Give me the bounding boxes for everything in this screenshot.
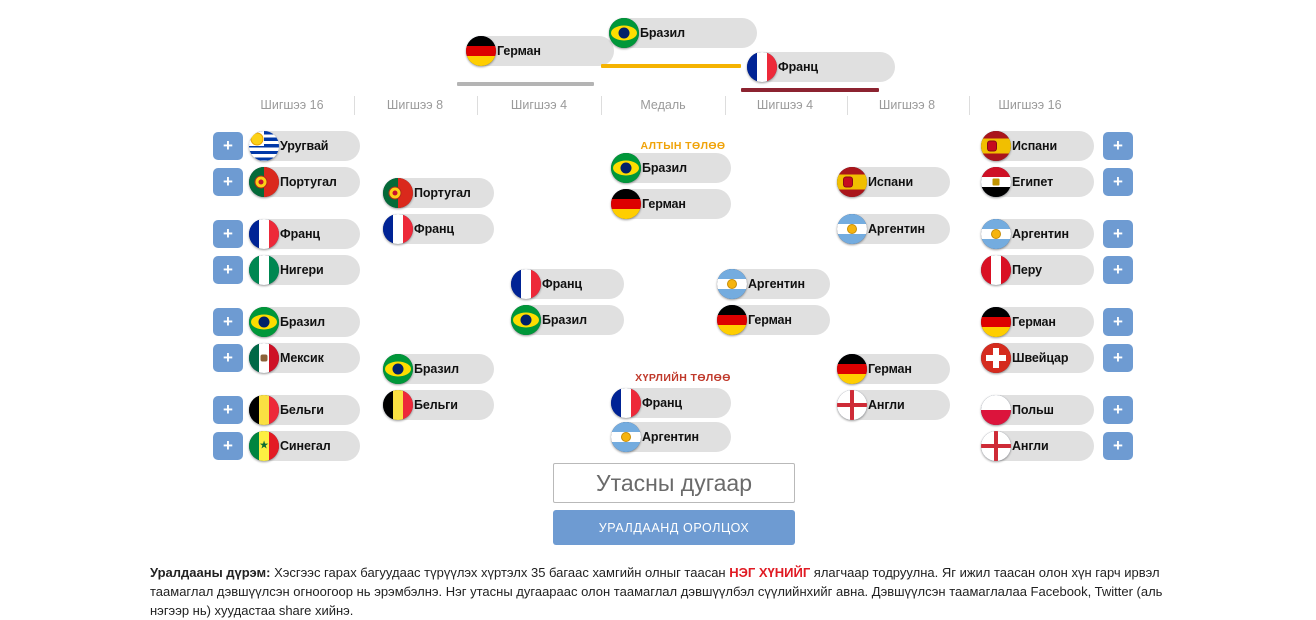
header-divider: [969, 96, 970, 115]
team-pill[interactable]: Аргентин: [981, 219, 1094, 249]
team-name: Швейцар: [1012, 351, 1068, 365]
team-pill[interactable]: Бельги: [249, 395, 360, 425]
add-pick-button[interactable]: +: [213, 168, 243, 196]
team-pill[interactable]: Бразил: [383, 354, 494, 384]
flag-icon-en: [837, 390, 867, 420]
add-pick-button[interactable]: +: [1103, 344, 1133, 372]
flag-icon-pt: [383, 178, 413, 208]
flag-icon-be: [383, 390, 413, 420]
flag-icon-de: [981, 307, 1011, 337]
team-pill[interactable]: Перу: [981, 255, 1094, 285]
flag-icon-be: [249, 395, 279, 425]
bronze-match-label: ХҮРЛИЙН ТӨЛӨӨ: [608, 372, 758, 384]
flag-icon-br: [249, 307, 279, 337]
flag-icon-fr: [249, 219, 279, 249]
flag-icon-en: [981, 431, 1011, 461]
round-header-1: Шигшээ 8: [365, 98, 465, 112]
rules-part1: Хэсгээс гарах багуудаас түрүүлэх хүртэлх…: [271, 565, 730, 580]
add-pick-button[interactable]: +: [1103, 168, 1133, 196]
header-divider: [601, 96, 602, 115]
flag-icon-ng: [249, 255, 279, 285]
flag-icon-fr: [611, 388, 641, 418]
rules-text: Уралдааны дүрэм: Хэсгээс гарах багуудаас…: [150, 563, 1185, 620]
team-pill[interactable]: Нигери: [249, 255, 360, 285]
team-name: Герман: [868, 362, 912, 376]
add-pick-button[interactable]: +: [213, 132, 243, 160]
flag-icon-de: [837, 354, 867, 384]
team-name: Нигери: [280, 263, 324, 277]
flag-icon-fr: [383, 214, 413, 244]
team-name: Египет: [1012, 175, 1053, 189]
team-name: Герман: [642, 197, 686, 211]
team-name: Перу: [1012, 263, 1042, 277]
team-name: Франц: [280, 227, 320, 241]
podium-pill-gold[interactable]: Бразил: [609, 18, 757, 48]
flag-icon-sn: ★: [249, 431, 279, 461]
flag-icon-pe: [981, 255, 1011, 285]
team-pill[interactable]: Польш: [981, 395, 1094, 425]
team-pill[interactable]: Бразил: [249, 307, 360, 337]
team-name: Португал: [280, 175, 337, 189]
team-name: Мексик: [280, 351, 324, 365]
flag-icon-mx: [249, 343, 279, 373]
podium-bar-bronze: [741, 88, 879, 92]
header-divider: [477, 96, 478, 115]
team-name: Бразил: [280, 315, 325, 329]
header-divider: [725, 96, 726, 115]
flag-icon-eg: [981, 167, 1011, 197]
flag-icon-uy: [249, 131, 279, 161]
team-pill[interactable]: Франц: [249, 219, 360, 249]
team-name: Бразил: [414, 362, 459, 376]
team-name: Синегал: [280, 439, 331, 453]
team-name: Бразил: [542, 313, 587, 327]
team-pill[interactable]: Герман: [981, 307, 1094, 337]
team-name: Аргентин: [642, 430, 699, 444]
team-pill[interactable]: Египет: [981, 167, 1094, 197]
flag-icon-br: [383, 354, 413, 384]
add-pick-button[interactable]: +: [1103, 256, 1133, 284]
team-pill[interactable]: Герман: [717, 305, 830, 335]
round-header-4: Шигшээ 4: [735, 98, 835, 112]
team-pill[interactable]: Франц: [383, 214, 494, 244]
podium-bar-gold: [601, 64, 741, 68]
team-pill[interactable]: Уругвай: [249, 131, 360, 161]
round-header-5: Шигшээ 8: [857, 98, 957, 112]
flag-icon-ar: [717, 269, 747, 299]
team-pill[interactable]: Англи: [837, 390, 950, 420]
team-name: Герман: [1012, 315, 1056, 329]
flag-icon-pl: [981, 395, 1011, 425]
flag-icon-fr: [511, 269, 541, 299]
round-header-2: Шигшээ 4: [489, 98, 589, 112]
team-name: Аргентин: [868, 222, 925, 236]
team-pill[interactable]: ★Синегал: [249, 431, 360, 461]
team-name: Франц: [542, 277, 582, 291]
podium-bar-silver: [457, 82, 594, 86]
round-header-0: Шигшээ 16: [242, 98, 342, 112]
podium-pill-bronze[interactable]: Франц: [747, 52, 895, 82]
team-name: Бразил: [640, 26, 685, 40]
team-pill[interactable]: Франц: [511, 269, 624, 299]
header-divider: [847, 96, 848, 115]
flag-icon-br: [511, 305, 541, 335]
gold-match-pill[interactable]: Бразил: [611, 153, 731, 183]
submit-button[interactable]: УРАЛДААНД ОРОЛЦОХ: [553, 510, 795, 545]
flag-icon-ar: [981, 219, 1011, 249]
add-pick-button[interactable]: +: [213, 308, 243, 336]
team-pill[interactable]: Испани: [981, 131, 1094, 161]
add-pick-button[interactable]: +: [1103, 432, 1133, 460]
team-pill[interactable]: Англи: [981, 431, 1094, 461]
team-pill[interactable]: Бельги: [383, 390, 494, 420]
team-name: Бельги: [280, 403, 324, 417]
team-pill[interactable]: Швейцар: [981, 343, 1094, 373]
team-pill[interactable]: Мексик: [249, 343, 360, 373]
bronze-match-pill[interactable]: Аргентин: [611, 422, 731, 452]
team-name: Аргентин: [1012, 227, 1069, 241]
team-pill[interactable]: Бразил: [511, 305, 624, 335]
flag-icon-de: [717, 305, 747, 335]
flag-icon-ch: [981, 343, 1011, 373]
add-pick-button[interactable]: +: [213, 396, 243, 424]
team-name: Аргентин: [748, 277, 805, 291]
flag-icon-ar: [611, 422, 641, 452]
bracket-stage: ГерманБразилФранц Шигшээ 16Шигшээ 8Шигшэ…: [0, 0, 1316, 609]
gold-match-label: АЛТЫН ТӨЛӨӨ: [608, 140, 758, 152]
team-pill[interactable]: Португал: [383, 178, 494, 208]
team-pill[interactable]: Герман: [837, 354, 950, 384]
rules-title: Уралдааны дүрэм:: [150, 565, 271, 580]
team-pill[interactable]: Аргентин: [717, 269, 830, 299]
rules-highlight: НЭГ ХҮНИЙГ: [729, 565, 810, 580]
flag-icon-de: [466, 36, 496, 66]
team-name: Португал: [414, 186, 471, 200]
add-pick-button[interactable]: +: [1103, 220, 1133, 248]
add-pick-button[interactable]: +: [1103, 308, 1133, 336]
team-name: Испани: [868, 175, 913, 189]
team-name: Бразил: [642, 161, 687, 175]
team-name: Англи: [868, 398, 905, 412]
add-pick-button[interactable]: +: [213, 256, 243, 284]
round-header-3: Медаль: [613, 98, 713, 112]
flag-icon-de: [611, 189, 641, 219]
header-divider: [354, 96, 355, 115]
team-name: Бельги: [414, 398, 458, 412]
team-name: Франц: [414, 222, 454, 236]
flag-icon-es: [837, 167, 867, 197]
add-pick-button[interactable]: +: [213, 344, 243, 372]
flag-icon-pt: [249, 167, 279, 197]
podium-pill-silver[interactable]: Герман: [466, 36, 614, 66]
team-pill[interactable]: Испани: [837, 167, 950, 197]
team-name: Франц: [642, 396, 682, 410]
bronze-match-pill[interactable]: Франц: [611, 388, 731, 418]
add-pick-button[interactable]: +: [213, 432, 243, 460]
team-name: Польш: [1012, 403, 1054, 417]
flag-icon-es: [981, 131, 1011, 161]
add-pick-button[interactable]: +: [213, 220, 243, 248]
team-name: Герман: [497, 44, 541, 58]
flag-icon-fr: [747, 52, 777, 82]
add-pick-button[interactable]: +: [1103, 132, 1133, 160]
team-name: Англи: [1012, 439, 1049, 453]
gold-match-pill[interactable]: Герман: [611, 189, 731, 219]
phone-input[interactable]: [553, 463, 795, 503]
add-pick-button[interactable]: +: [1103, 396, 1133, 424]
team-name: Герман: [748, 313, 792, 327]
team-name: Испани: [1012, 139, 1057, 153]
flag-icon-br: [611, 153, 641, 183]
flag-icon-br: [609, 18, 639, 48]
team-pill[interactable]: Аргентин: [837, 214, 950, 244]
team-name: Уругвай: [280, 139, 328, 153]
flag-icon-ar: [837, 214, 867, 244]
round-header-6: Шигшээ 16: [980, 98, 1080, 112]
team-name: Франц: [778, 60, 818, 74]
team-pill[interactable]: Португал: [249, 167, 360, 197]
